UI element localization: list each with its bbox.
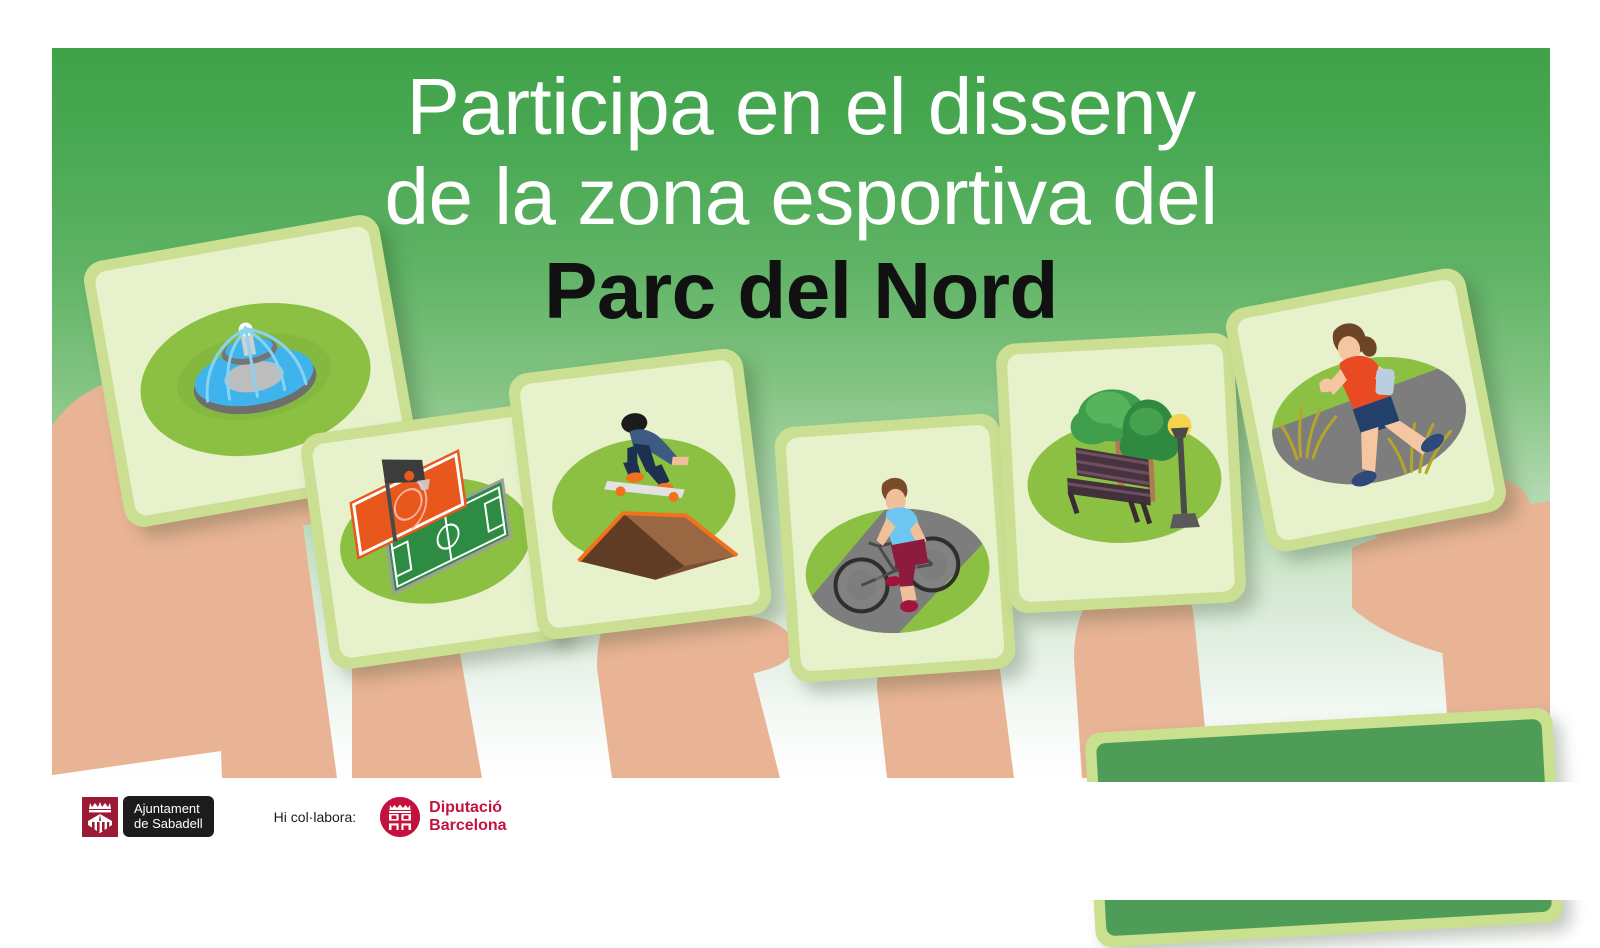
ajuntament-line-1: Ajuntament	[134, 801, 203, 816]
sabadell-shield-icon	[82, 797, 118, 837]
diputacio-line-1: Diputació	[429, 799, 506, 817]
diputacio-barcelona-logo[interactable]: Diputació Barcelona	[380, 797, 506, 837]
banner-artwork-clip: Participa en el disseny de la zona espor…	[52, 48, 1550, 778]
diputacio-emblem-icon	[380, 797, 420, 837]
footer-logos: Ajuntament de Sabadell Hi col·labora:	[82, 796, 507, 837]
diputacio-line-2: Barcelona	[429, 817, 506, 835]
card-runner-art	[1235, 278, 1496, 542]
card-runner[interactable]	[1223, 265, 1510, 555]
collaborate-label: Hi col·labora:	[274, 809, 356, 825]
card-skate[interactable]	[507, 347, 774, 642]
ajuntament-sabadell-logo[interactable]: Ajuntament de Sabadell	[82, 796, 214, 837]
card-bike[interactable]	[773, 412, 1016, 683]
park-bench-icon	[1007, 344, 1236, 603]
ajuntament-nameplate: Ajuntament de Sabadell	[123, 796, 214, 837]
runner-icon	[1235, 278, 1496, 542]
card-bench[interactable]	[995, 332, 1247, 614]
ajuntament-line-2: de Sabadell	[134, 816, 203, 831]
skateboard-ramp-icon	[519, 359, 761, 629]
promo-banner: Participa en el disseny de la zona espor…	[52, 48, 1550, 778]
card-bike-art	[785, 424, 1005, 672]
card-bench-art	[1007, 344, 1236, 603]
card-skate-art	[519, 359, 761, 629]
cyclist-icon	[785, 424, 1005, 672]
diputacio-wordmark: Diputació Barcelona	[429, 799, 506, 835]
footer: Ajuntament de Sabadell Hi col·labora:	[0, 782, 1600, 900]
